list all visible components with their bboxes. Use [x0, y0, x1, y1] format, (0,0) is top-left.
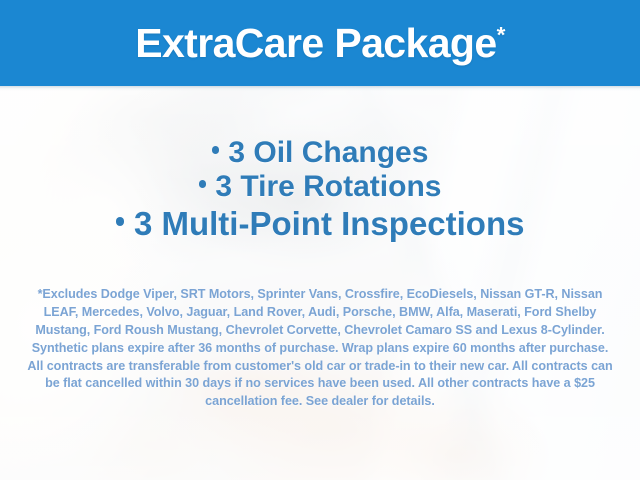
bullet-dot-icon	[116, 217, 125, 226]
list-item: 3 Oil Changes	[0, 137, 640, 169]
list-item: 3 Multi-Point Inspections	[0, 206, 640, 242]
bullet-dot-icon	[212, 146, 220, 154]
header-band: ExtraCare Package*	[0, 0, 640, 86]
extracare-promo-card: ExtraCare Package* 3 Oil Changes 3 Tire …	[0, 0, 640, 480]
disclaimer-text: *Excludes Dodge Viper, SRT Motors, Sprin…	[26, 286, 614, 411]
bullet-dot-icon	[199, 180, 207, 188]
page-title: ExtraCare Package*	[135, 23, 505, 64]
benefit-label: 3 Oil Changes	[228, 136, 428, 169]
list-item: 3 Tire Rotations	[0, 171, 640, 203]
page-title-text: ExtraCare Package	[135, 20, 496, 66]
benefits-list: 3 Oil Changes 3 Tire Rotations 3 Multi-P…	[0, 137, 640, 241]
benefit-label: 3 Multi-Point Inspections	[134, 205, 525, 242]
main-content: 3 Oil Changes 3 Tire Rotations 3 Multi-P…	[0, 86, 640, 480]
page-title-footnote-marker: *	[497, 22, 505, 47]
benefit-label: 3 Tire Rotations	[215, 170, 441, 203]
